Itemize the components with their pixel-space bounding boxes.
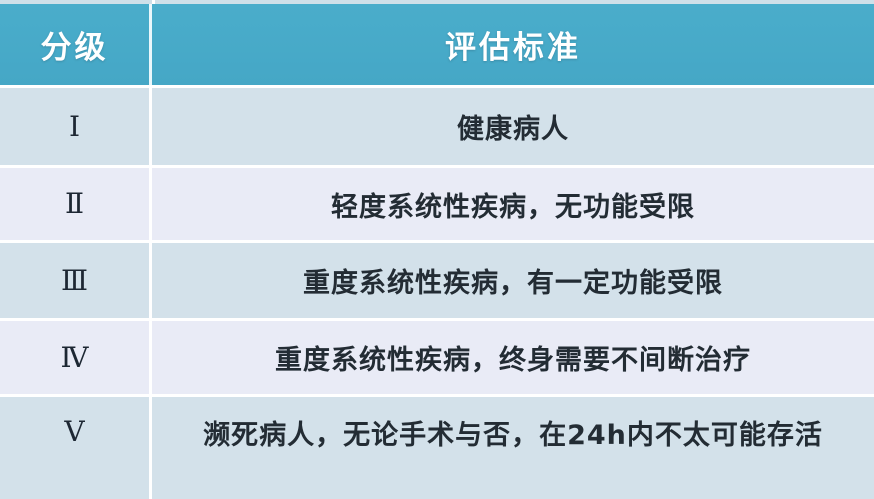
cell-criteria: 重度系统性疾病，有一定功能受限 bbox=[152, 243, 874, 318]
table-row: Ⅳ 重度系统性疾病，终身需要不间断治疗 bbox=[0, 321, 874, 394]
cell-criteria: 重度系统性疾病，终身需要不间断治疗 bbox=[152, 321, 874, 394]
cell-criteria: 健康病人 bbox=[152, 88, 874, 165]
cell-grade: Ⅰ bbox=[0, 88, 152, 165]
cell-grade: Ⅴ bbox=[0, 397, 152, 499]
table-row: Ⅲ 重度系统性疾病，有一定功能受限 bbox=[0, 243, 874, 318]
table-header-row: 分级 评估标准 bbox=[0, 4, 874, 88]
table-row: Ⅱ 轻度系统性疾病，无功能受限 bbox=[0, 168, 874, 240]
cell-criteria: 轻度系统性疾病，无功能受限 bbox=[152, 168, 874, 240]
column-header-criteria: 评估标准 bbox=[152, 4, 874, 85]
cell-grade: Ⅱ bbox=[0, 168, 152, 240]
cell-grade: Ⅳ bbox=[0, 321, 152, 394]
asa-classification-table: 分级 评估标准 Ⅰ 健康病人 Ⅱ 轻度系统性疾病，无功能受限 Ⅲ 重度系统性疾病… bbox=[0, 0, 874, 499]
cell-criteria: 濒死病人，无论手术与否，在24h内不太可能存活 bbox=[152, 397, 874, 499]
table-row: Ⅴ 濒死病人，无论手术与否，在24h内不太可能存活 bbox=[0, 397, 874, 499]
table-row: Ⅰ 健康病人 bbox=[0, 88, 874, 165]
cell-grade: Ⅲ bbox=[0, 243, 152, 318]
column-header-grade: 分级 bbox=[0, 4, 152, 85]
